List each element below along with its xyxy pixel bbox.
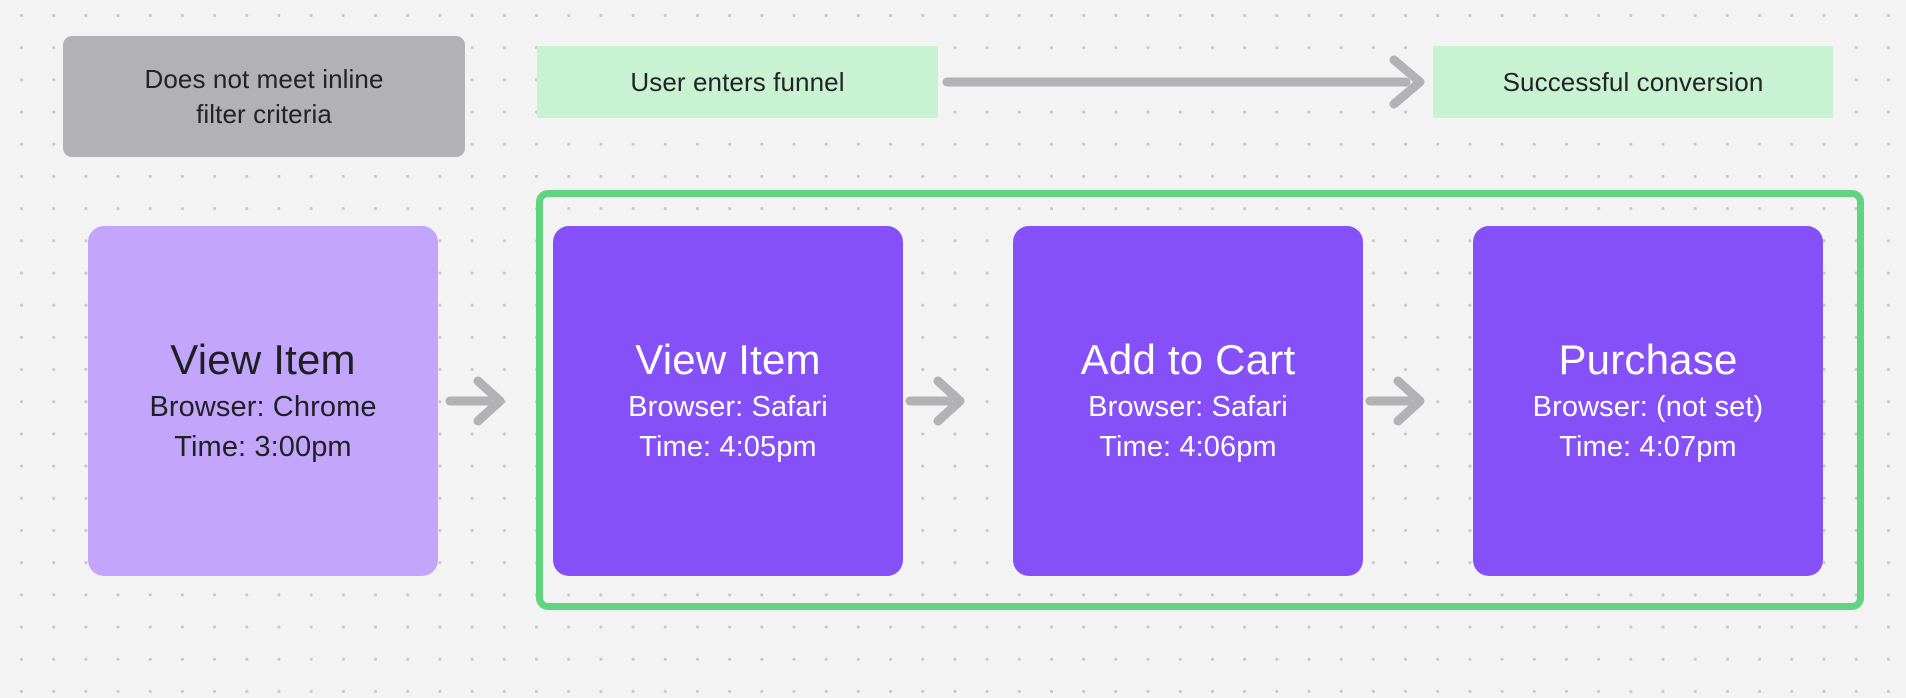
- event-card-time: Time: 3:00pm: [174, 427, 351, 467]
- event-card-excluded[interactable]: View Item Browser: Chrome Time: 3:00pm: [88, 226, 438, 576]
- event-card-browser: Browser: (not set): [1533, 387, 1764, 427]
- legend-flow-arrow-icon: [944, 56, 1428, 108]
- event-card-title: View Item: [170, 335, 355, 385]
- legend-funnel-exit-box: Successful conversion: [1433, 46, 1833, 118]
- event-card-title: Purchase: [1558, 335, 1737, 385]
- legend-excluded-line2: filter criteria: [196, 97, 332, 132]
- event-card-browser: Browser: Safari: [628, 387, 828, 427]
- event-card-time: Time: 4:06pm: [1099, 427, 1276, 467]
- event-card-title: Add to Cart: [1081, 335, 1296, 385]
- legend-funnel-exit-label: Successful conversion: [1503, 67, 1764, 98]
- legend-excluded-line1: Does not meet inline: [144, 62, 383, 97]
- event-card-included-2[interactable]: Add to Cart Browser: Safari Time: 4:06pm: [1013, 226, 1363, 576]
- legend-excluded-box: Does not meet inline filter criteria: [63, 36, 465, 157]
- event-flow-arrow-icon-1: [446, 375, 508, 427]
- legend-funnel-entry-label: User enters funnel: [630, 67, 844, 98]
- event-card-included-1[interactable]: View Item Browser: Safari Time: 4:05pm: [553, 226, 903, 576]
- event-card-browser: Browser: Chrome: [149, 387, 376, 427]
- legend-funnel-entry-box: User enters funnel: [537, 46, 938, 118]
- diagram-canvas: Does not meet inline filter criteria Use…: [0, 0, 1906, 698]
- event-card-included-3[interactable]: Purchase Browser: (not set) Time: 4:07pm: [1473, 226, 1823, 576]
- event-card-time: Time: 4:07pm: [1559, 427, 1736, 467]
- event-card-title: View Item: [635, 335, 820, 385]
- event-card-time: Time: 4:05pm: [639, 427, 816, 467]
- event-card-browser: Browser: Safari: [1088, 387, 1288, 427]
